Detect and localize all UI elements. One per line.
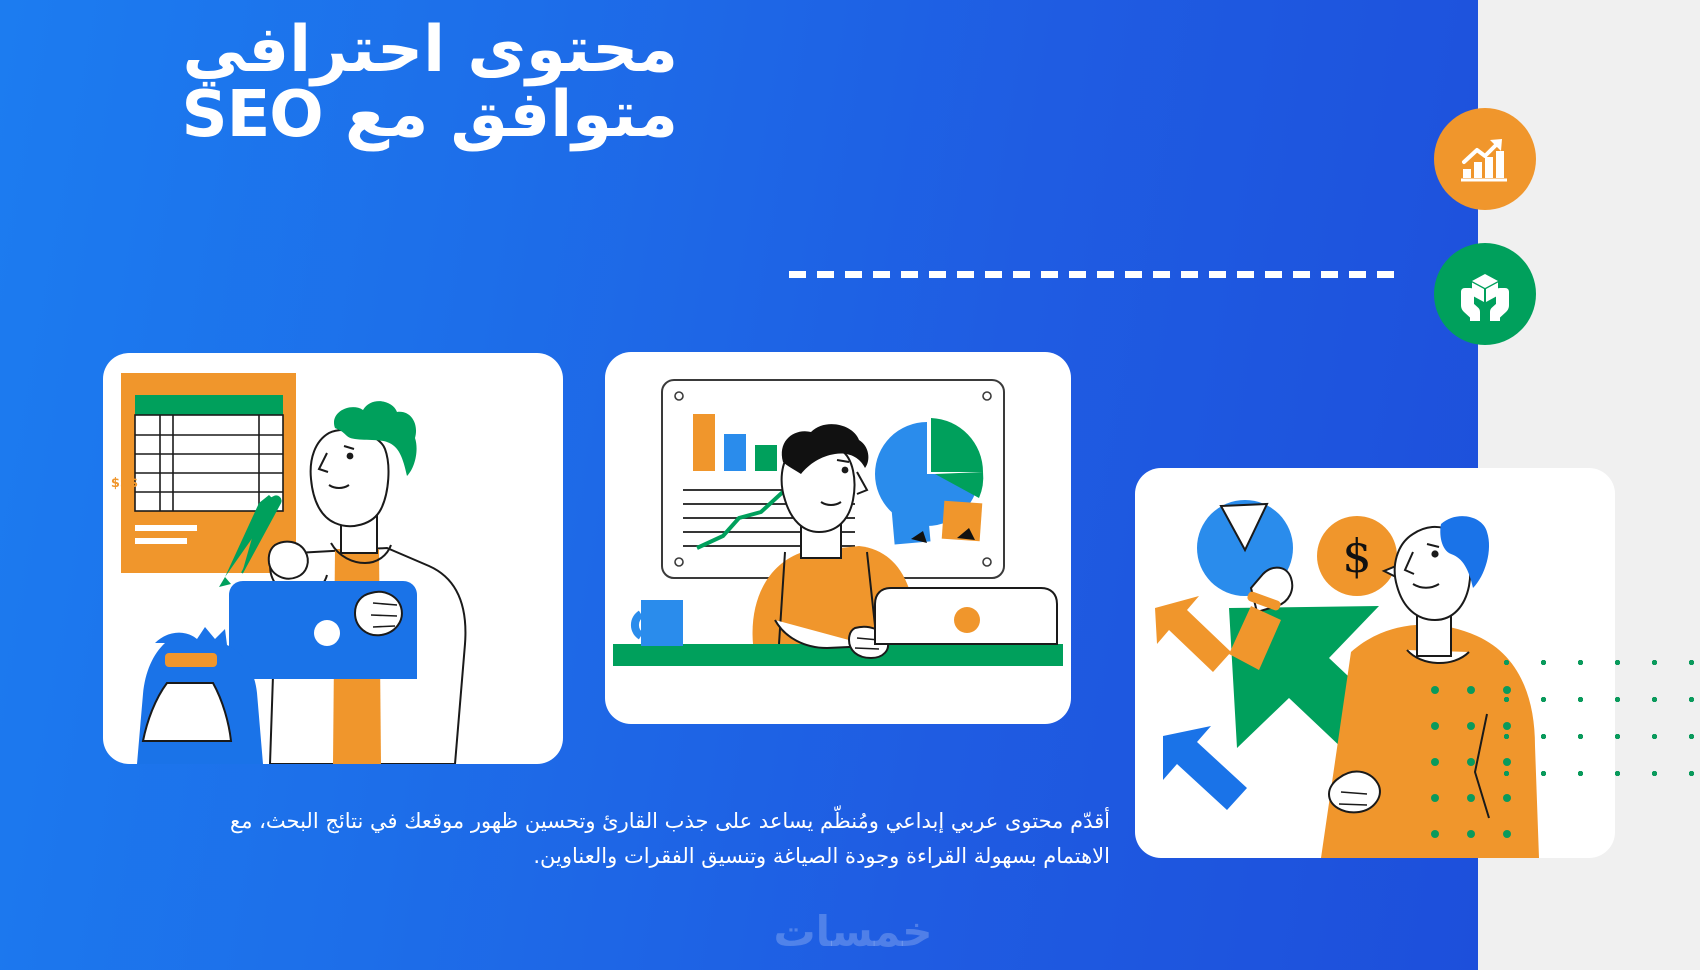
- analytics-illustration: [605, 352, 1071, 724]
- poster-canvas: محتوى احترافي متوافق مع SEO: [0, 0, 1700, 970]
- bar-1: [693, 414, 715, 471]
- decorative-dot-grid: [1482, 638, 1697, 798]
- orange-arrow: [1155, 596, 1231, 672]
- svg-text:$: $: [1342, 529, 1371, 583]
- blue-arrow: [1163, 726, 1247, 810]
- bar-3: [755, 445, 777, 471]
- description-paragraph: أقدّم محتوى عربي إبداعي ومُنظّم يساعد عل…: [120, 804, 1110, 873]
- coffee-mug: [641, 600, 683, 646]
- hands-holding-box-badge: [1434, 243, 1536, 345]
- khamsat-watermark: خمسات: [748, 905, 958, 957]
- hands-holding-box-icon: [1456, 266, 1514, 322]
- dashed-divider: [789, 271, 1399, 278]
- illustration-card-spreadsheet: $$$: [103, 353, 563, 764]
- growth-chart-icon: [1457, 131, 1513, 187]
- bar-2: [724, 434, 746, 471]
- page-title: محتوى احترافي متوافق مع SEO: [58, 18, 678, 149]
- growth-chart-badge: [1434, 108, 1536, 210]
- illustration-card-analytics: [605, 352, 1071, 724]
- price-cell-label: $$$: [111, 476, 138, 491]
- spreadsheet-illustration: $$$: [103, 353, 563, 764]
